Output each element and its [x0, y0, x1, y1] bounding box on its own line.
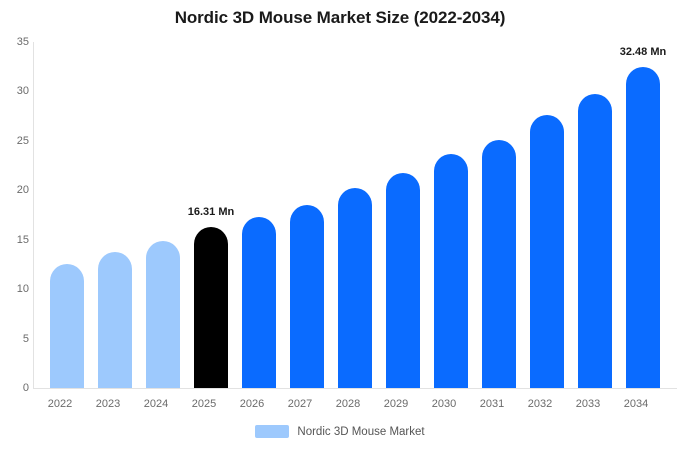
bar-slot	[235, 42, 283, 388]
plot-area: 16.31 Mn32.48 Mn	[33, 42, 677, 388]
bar-slot: 32.48 Mn	[619, 42, 667, 388]
bar[interactable]	[290, 205, 324, 388]
bar[interactable]	[242, 217, 276, 388]
bar[interactable]	[50, 264, 84, 388]
bar-slot	[283, 42, 331, 388]
x-axis-tick-label: 2022	[36, 398, 84, 410]
y-axis-tick-label: 20	[3, 184, 29, 196]
y-axis-tick-label: 10	[3, 283, 29, 295]
bar[interactable]	[530, 115, 564, 388]
bar-slot: 16.31 Mn	[187, 42, 235, 388]
legend: Nordic 3D Mouse Market	[0, 425, 680, 438]
bar-slot	[427, 42, 475, 388]
bar[interactable]	[578, 94, 612, 388]
bar[interactable]	[482, 140, 516, 388]
bar-chart: Nordic 3D Mouse Market Size (2022-2034) …	[0, 0, 680, 450]
x-axis-tick-label: 2028	[324, 398, 372, 410]
chart-title: Nordic 3D Mouse Market Size (2022-2034)	[0, 8, 680, 28]
y-axis-tick-label: 25	[3, 135, 29, 147]
x-axis-line	[33, 388, 677, 389]
x-axis-tick-label: 2030	[420, 398, 468, 410]
bar[interactable]	[98, 252, 132, 388]
bar[interactable]	[146, 241, 180, 388]
x-axis-tick-label: 2025	[180, 398, 228, 410]
bar-slot	[475, 42, 523, 388]
bar-value-label: 32.48 Mn	[603, 46, 680, 58]
y-axis-tick-label: 35	[3, 36, 29, 48]
bar[interactable]	[626, 67, 660, 388]
bar-slot	[331, 42, 379, 388]
y-axis-tick-label: 5	[3, 333, 29, 345]
bar-slot	[523, 42, 571, 388]
bar-slot	[571, 42, 619, 388]
x-axis-tick-label: 2027	[276, 398, 324, 410]
bar[interactable]	[194, 227, 228, 388]
bar[interactable]	[338, 188, 372, 388]
legend-label: Nordic 3D Mouse Market	[297, 426, 424, 438]
bar-slot	[91, 42, 139, 388]
bar-series: 16.31 Mn32.48 Mn	[33, 42, 677, 388]
bar[interactable]	[434, 154, 468, 388]
legend-swatch-icon	[255, 425, 289, 438]
x-axis-tick-label: 2024	[132, 398, 180, 410]
x-axis-tick-label: 2032	[516, 398, 564, 410]
y-axis-tick-label: 15	[3, 234, 29, 246]
bar[interactable]	[386, 173, 420, 388]
bar-slot	[379, 42, 427, 388]
x-axis-tick-label: 2034	[612, 398, 660, 410]
y-axis-tick-label: 30	[3, 85, 29, 97]
x-axis-tick-label: 2023	[84, 398, 132, 410]
legend-item-nordic-3d-mouse-market[interactable]: Nordic 3D Mouse Market	[255, 425, 424, 438]
x-axis-tick-label: 2026	[228, 398, 276, 410]
x-axis-tick-label: 2031	[468, 398, 516, 410]
y-axis-tick-label: 0	[3, 382, 29, 394]
x-axis-tick-label: 2029	[372, 398, 420, 410]
bar-slot	[43, 42, 91, 388]
x-axis-tick-label: 2033	[564, 398, 612, 410]
